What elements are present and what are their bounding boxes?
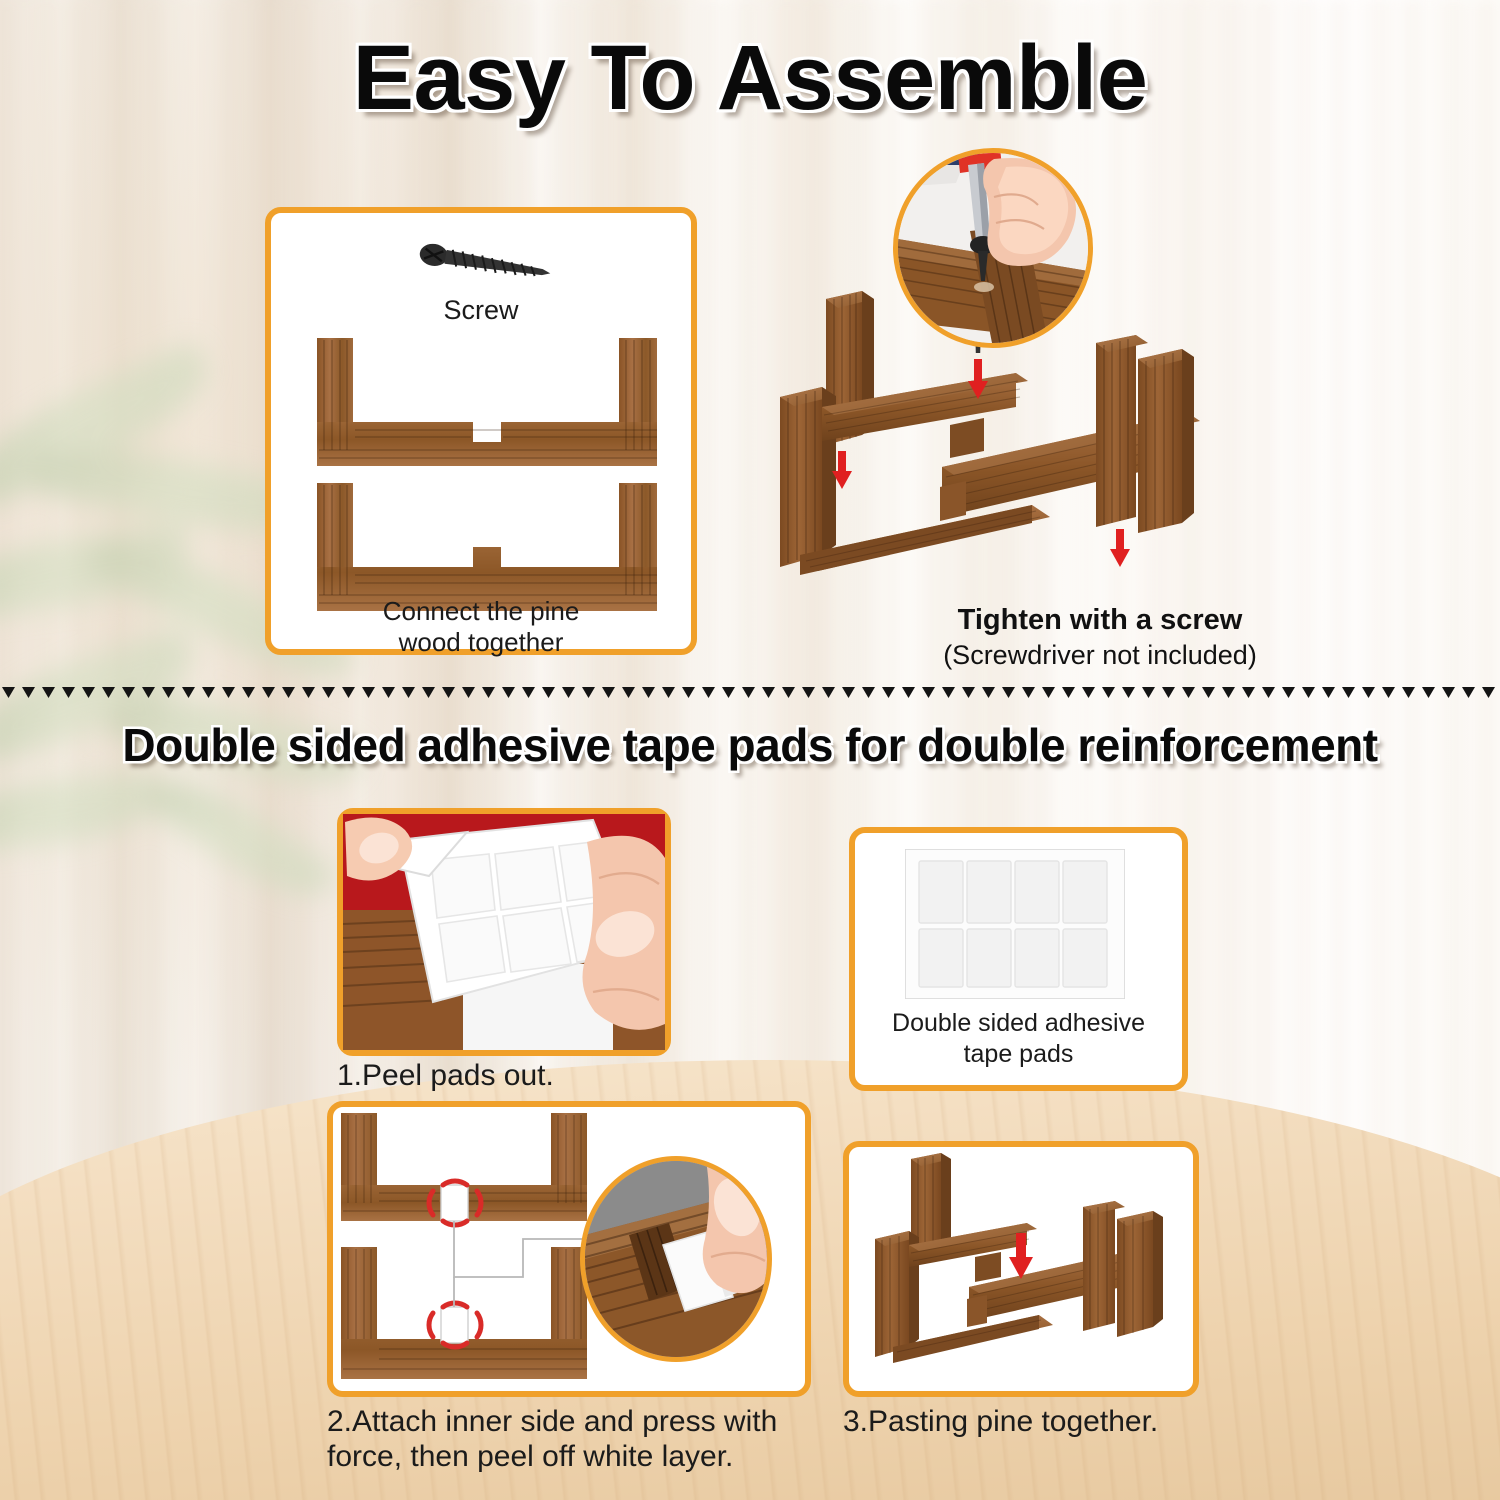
adhesive-pads-sheet: [905, 849, 1125, 999]
screw-label: Screw: [271, 295, 691, 326]
caption-connect-pine: Connect the pine wood together: [265, 596, 697, 657]
panel-peel-pads: [337, 808, 671, 1056]
page-title: Easy To Assemble: [353, 26, 1148, 131]
screw-icon: [411, 241, 571, 287]
caption-tighten-bold: Tighten with a screw: [900, 604, 1300, 637]
inset-screwdriver-photo: [893, 148, 1093, 348]
caption-peel-pads: 1.Peel pads out.: [337, 1058, 737, 1093]
panel-adhesive-pads: Double sided adhesive tape pads: [849, 827, 1188, 1091]
panel-paste-pine: [843, 1141, 1199, 1397]
scalloped-divider-icon: [0, 678, 1500, 700]
panel-connect-pine: Screw: [265, 207, 697, 655]
caption-adhesive-pads: Double sided adhesive tape pads: [865, 1008, 1172, 1069]
inset-pad-on-wood-photo: [580, 1156, 772, 1362]
section-title: Double sided adhesive tape pads for doub…: [122, 718, 1377, 772]
caption-paste-pine: 3.Pasting pine together.: [843, 1404, 1243, 1439]
caption-tighten-note: (Screwdriver not included): [900, 640, 1300, 671]
peel-pads-photo: [343, 814, 665, 1050]
caption-tighten-screw: Tighten with a screw (Screwdriver not in…: [900, 604, 1300, 671]
pine-piece-upper: [313, 338, 663, 478]
caption-attach-inner-side: 2.Attach inner side and press with force…: [327, 1404, 797, 1475]
paste-stand-illustration: [849, 1147, 1193, 1391]
